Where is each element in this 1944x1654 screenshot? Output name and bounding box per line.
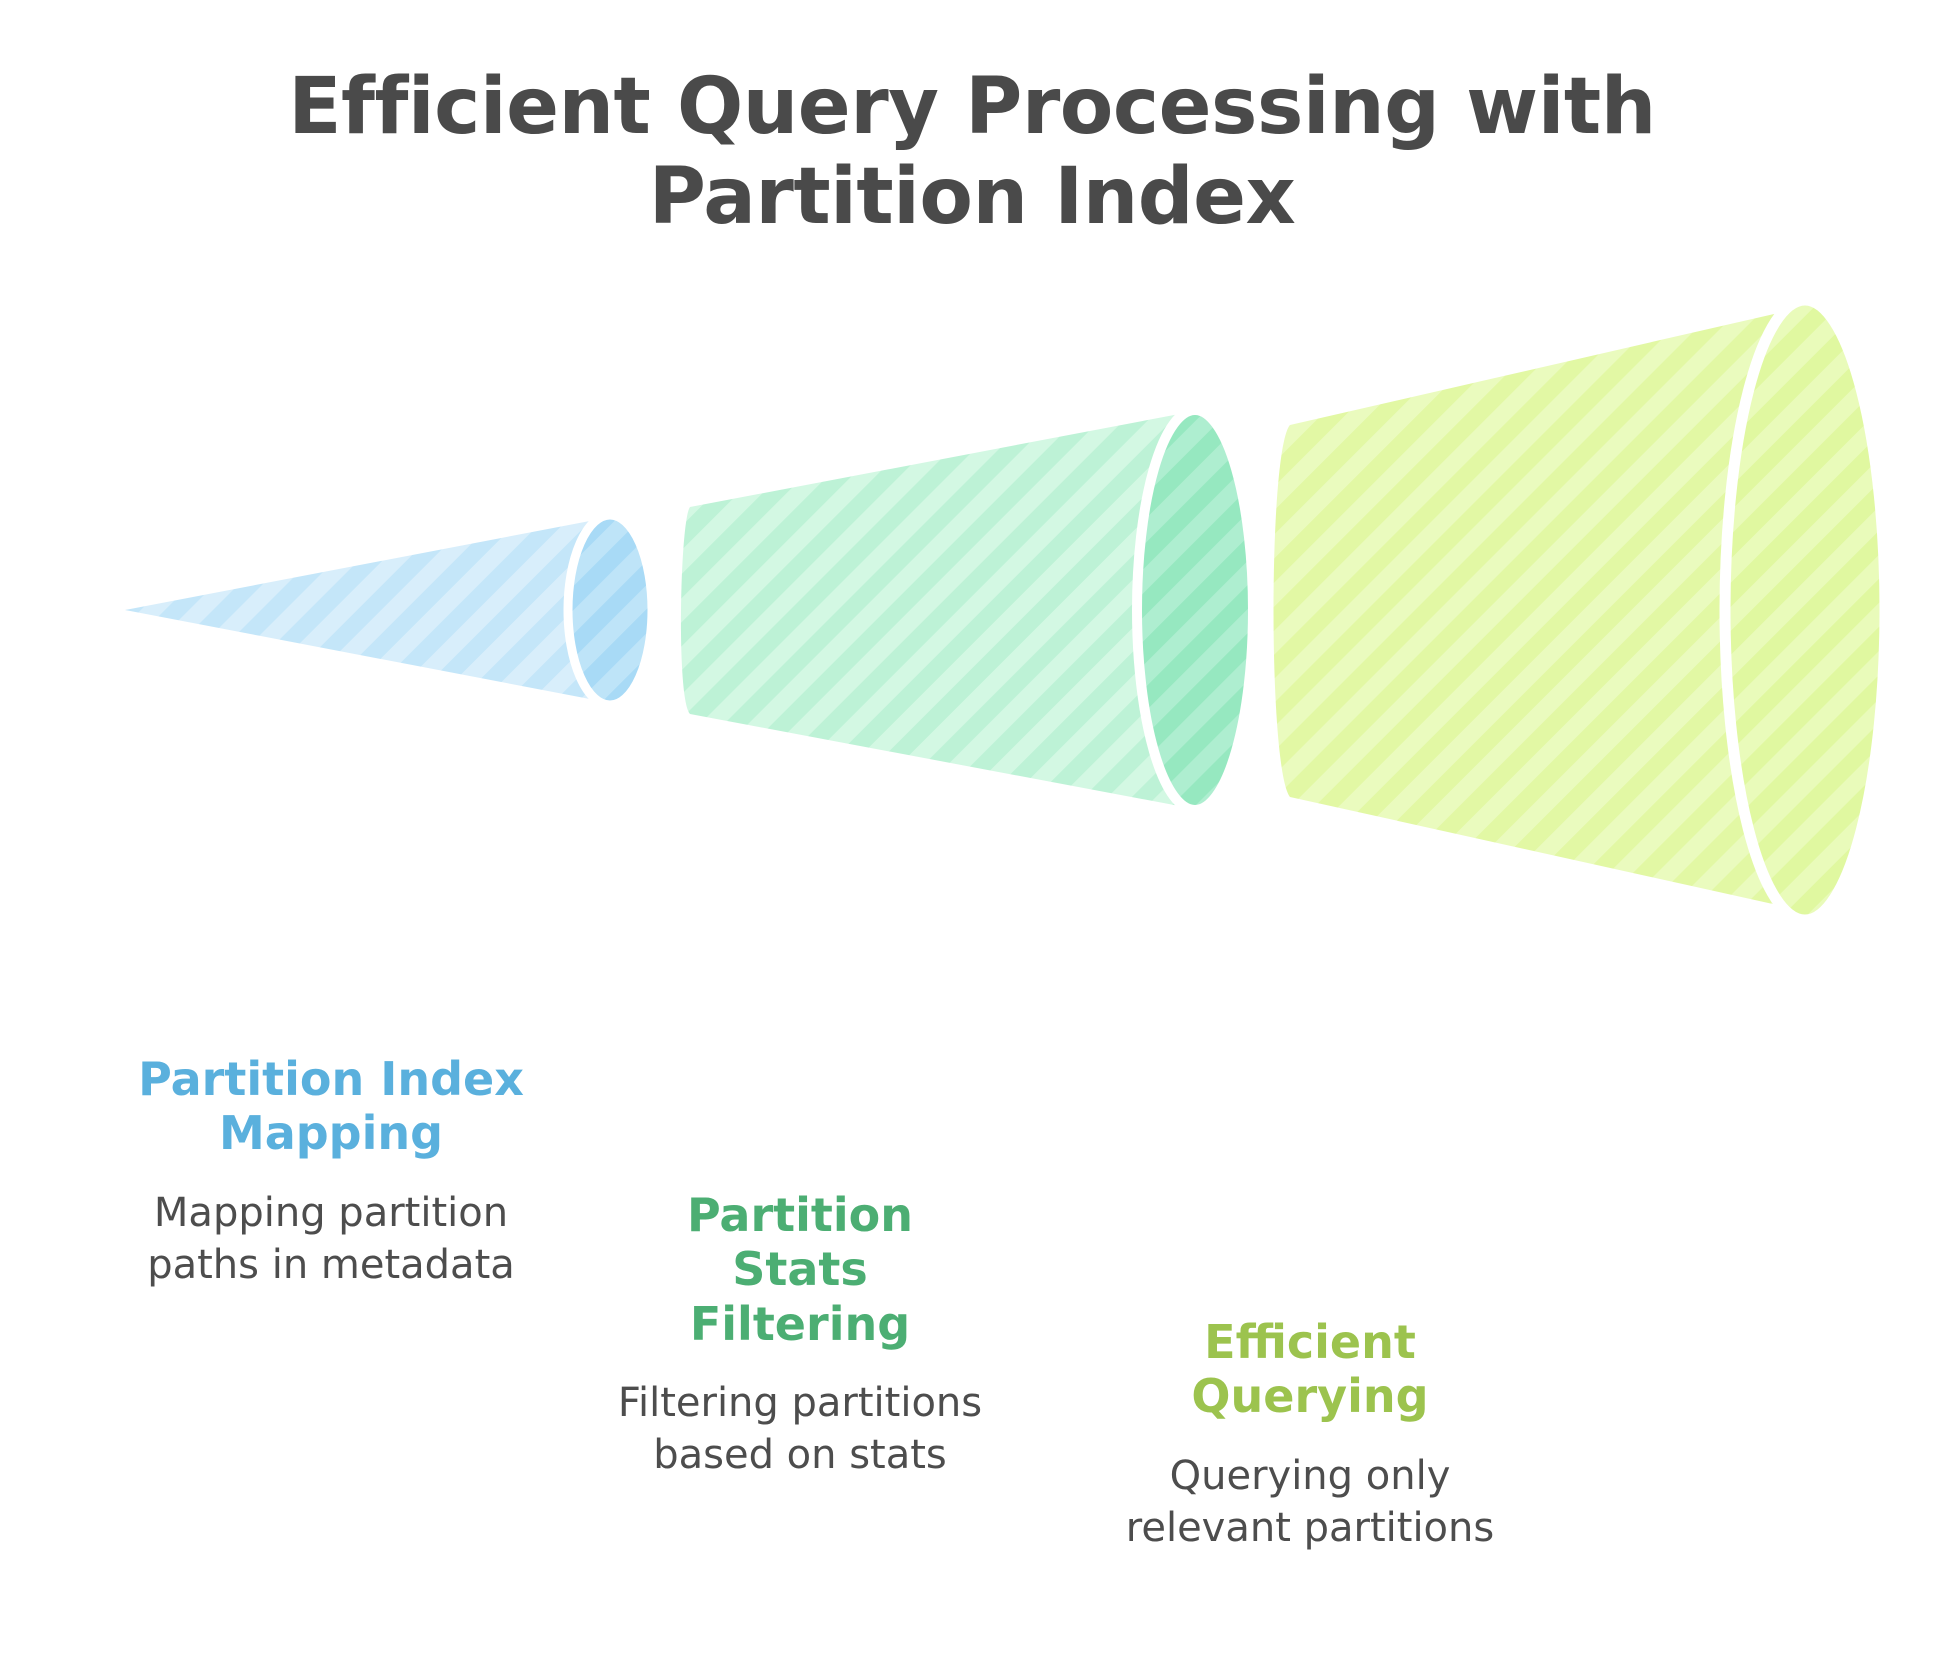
cone-cap-green: [1137, 410, 1253, 810]
cone-cap-blue: [568, 515, 652, 705]
stage-description-partition-index-mapping: Mapping partition paths in metadata: [96, 1187, 566, 1291]
stage-description-partition-stats-filtering: Filtering partitions based on stats: [575, 1377, 1025, 1481]
diagram-canvas: Efficient Query Processing with Partitio…: [0, 0, 1944, 1654]
funnel-diagram: [0, 270, 1944, 970]
stage-description-efficient-querying: Querying only relevant partitions: [1075, 1450, 1545, 1554]
stage-block-efficient-querying: Efficient Querying Querying only relevan…: [1075, 1315, 1545, 1554]
page-title: Efficient Query Processing with Partitio…: [0, 62, 1944, 243]
stage-heading-partition-stats-filtering: Partition Stats Filtering: [575, 1188, 1025, 1351]
cone-efficient-querying: [1274, 300, 1886, 920]
cone-cap-yellow: [1725, 300, 1885, 920]
cone-partition-index-mapping: [125, 515, 652, 705]
stage-heading-partition-index-mapping: Partition Index Mapping: [96, 1052, 566, 1161]
stage-block-partition-stats-filtering: Partition Stats Filtering Filtering part…: [575, 1188, 1025, 1481]
cone-partition-stats-filtering: [681, 410, 1253, 810]
stage-heading-efficient-querying: Efficient Querying: [1075, 1315, 1545, 1424]
stage-block-partition-index-mapping: Partition Index Mapping Mapping partitio…: [96, 1052, 566, 1291]
